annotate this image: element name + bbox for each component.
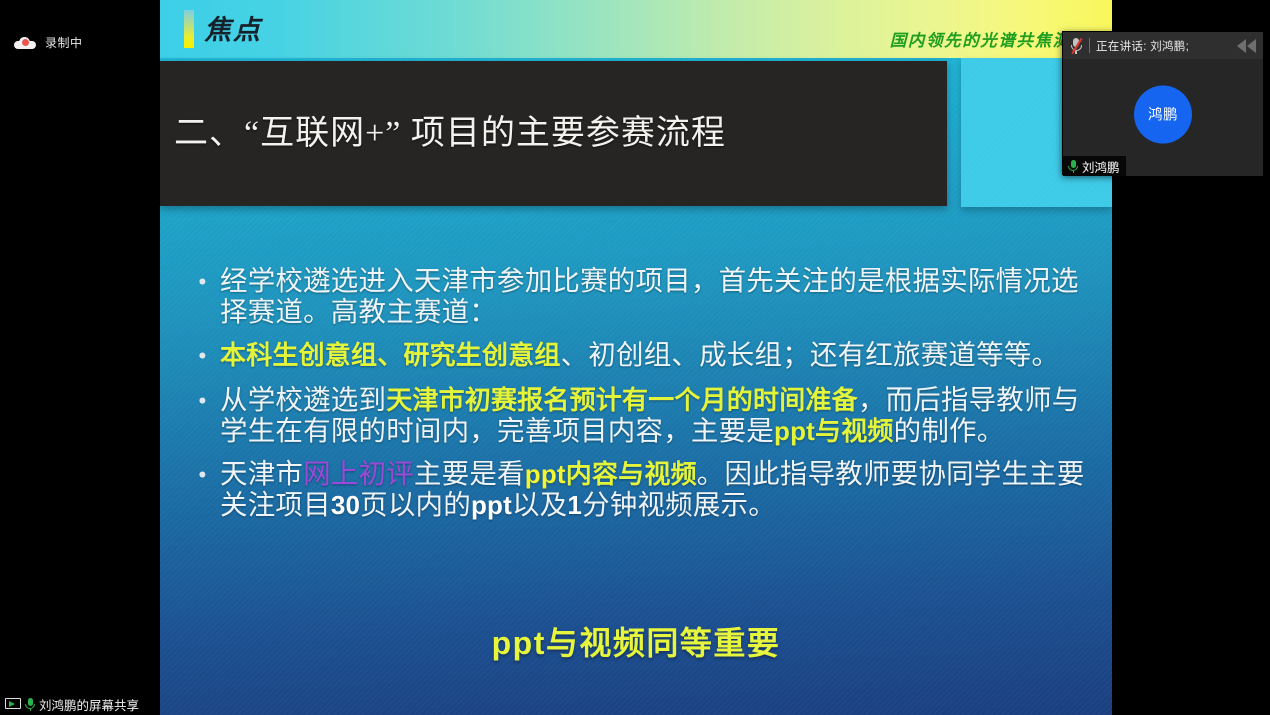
- bullet-text-segment: 从学校遴选到: [220, 384, 386, 415]
- bullet-item: •从学校遴选到天津市初赛报名预计有一个月的时间准备，而后指导教师与学生在有限的时…: [198, 385, 1096, 446]
- banner-brand-title: 焦点: [204, 8, 262, 47]
- topbar-divider: [1089, 38, 1090, 53]
- slide-banner: 焦点 国内领先的光谱共焦测量系: [160, 0, 1112, 58]
- bullet-text-segment: 主要是看: [414, 458, 525, 489]
- participant-nametag: 刘鸿鹏: [1063, 156, 1126, 176]
- bullet-text-segment: 内容与视频: [566, 459, 697, 489]
- slide-bullet-list: •经学校遴选进入天津市参加比赛的项目，首先关注的是根据实际情况选择赛道。高教主赛…: [198, 266, 1096, 533]
- participant-name: 刘鸿鹏: [1082, 157, 1120, 176]
- bullet-text-segment: 30: [331, 490, 360, 520]
- mic-post: [1075, 51, 1076, 54]
- cloud-record-icon: [14, 37, 36, 49]
- mic-post: [1073, 171, 1074, 174]
- bullet-text-segment: 网上初评: [303, 458, 414, 489]
- record-dot: [22, 39, 29, 46]
- shared-slide: 焦点 国内领先的光谱共焦测量系 二、“互联网+” 项目的主要参赛流程 •经学校遴…: [160, 0, 1112, 715]
- bullet-marker: •: [198, 459, 220, 491]
- bullet-text-segment: ppt: [525, 459, 566, 489]
- bullet-text: 本科生创意组、研究生创意组、初创组、成长组；还有红旅赛道等等。: [220, 340, 1096, 371]
- bullet-text-segment: 分钟视频展示。: [582, 489, 776, 520]
- bullet-item: •经学校遴选进入天津市参加比赛的项目，首先关注的是根据实际情况选择赛道。高教主赛…: [198, 266, 1096, 327]
- mic-on-icon: [24, 697, 36, 712]
- screen-share-status-bar: 刘鸿鹏的屏幕共享: [0, 693, 149, 715]
- bullet-text-segment: ppt: [471, 490, 512, 520]
- active-speaker-label: 正在讲话: 刘鸿鹏;: [1096, 38, 1257, 54]
- slide-conclusion-text: ppt与视频同等重要: [160, 618, 1112, 664]
- slide-title-block: 二、“互联网+” 项目的主要参赛流程: [160, 61, 947, 206]
- screen-share-status-text: 刘鸿鹏的屏幕共享: [39, 695, 139, 714]
- bullet-item: •天津市网上初评主要是看ppt内容与视频。因此指导教师要协同学生主要关注项目30…: [198, 459, 1096, 520]
- bullet-text-segment: 的制作。: [894, 415, 1005, 446]
- bullet-marker: •: [198, 266, 220, 298]
- bullet-text-segment: 、初创组、成长组；还有红旅赛道等等。: [561, 339, 1060, 370]
- bullet-text: 从学校遴选到天津市初赛报名预计有一个月的时间准备，而后指导教师与学生在有限的时间…: [220, 385, 1096, 446]
- banner-accent-bar: [184, 10, 194, 48]
- bullet-text-segment: 1: [567, 490, 582, 520]
- screen-share-stage: 录制中 焦点 国内领先的光谱共焦测量系 二、“互联网+” 项目的主要参赛流程 •…: [0, 0, 1270, 715]
- mic-post: [30, 709, 31, 712]
- page-title: 二、“互联网+” 项目的主要参赛流程: [174, 105, 726, 154]
- recording-indicator: 录制中: [14, 34, 83, 51]
- bullet-text-segment: 天津市: [220, 458, 303, 489]
- participant-video-stage[interactable]: 鸿鹏 刘鸿鹏: [1063, 59, 1263, 176]
- recording-label: 录制中: [45, 34, 83, 51]
- bullet-text: 天津市网上初评主要是看ppt内容与视频。因此指导教师要协同学生主要关注项目30页…: [220, 459, 1096, 520]
- chevron-right-double-icon[interactable]: [1237, 39, 1256, 53]
- bullet-text-segment: 以及: [512, 489, 567, 520]
- mic-muted-icon[interactable]: [1069, 37, 1083, 54]
- chevron-2: [1247, 39, 1256, 53]
- screen-share-icon: [5, 698, 21, 711]
- bullet-marker: •: [198, 385, 220, 417]
- participant-video-panel[interactable]: 正在讲话: 刘鸿鹏; 鸿鹏 刘鸿鹏: [1062, 31, 1262, 175]
- bullet-text: 经学校遴选进入天津市参加比赛的项目，首先关注的是根据实际情况选择赛道。高教主赛道…: [220, 266, 1096, 327]
- bullet-text-segment: 天津市初赛报名预计有一个月的时间准备: [386, 385, 858, 415]
- bullet-text-segment: 本科生创意组、研究生创意组: [220, 340, 561, 370]
- bullet-text-segment: 页以内的: [360, 489, 471, 520]
- chevron-1: [1237, 39, 1246, 53]
- bullet-text-segment: ppt与视频: [774, 416, 894, 446]
- mic-on-icon: [1067, 159, 1079, 174]
- bullet-item: •本科生创意组、研究生创意组、初创组、成长组；还有红旅赛道等等。: [198, 340, 1096, 372]
- participant-panel-topbar: 正在讲话: 刘鸿鹏;: [1063, 32, 1263, 59]
- share-arrow: [9, 701, 15, 707]
- bullet-marker: •: [198, 340, 220, 372]
- avatar: 鸿鹏: [1134, 85, 1192, 143]
- bullet-text-segment: 经学校遴选进入天津市参加比赛的项目，首先关注的是根据实际情况选择赛道。高教主赛道…: [220, 265, 1079, 327]
